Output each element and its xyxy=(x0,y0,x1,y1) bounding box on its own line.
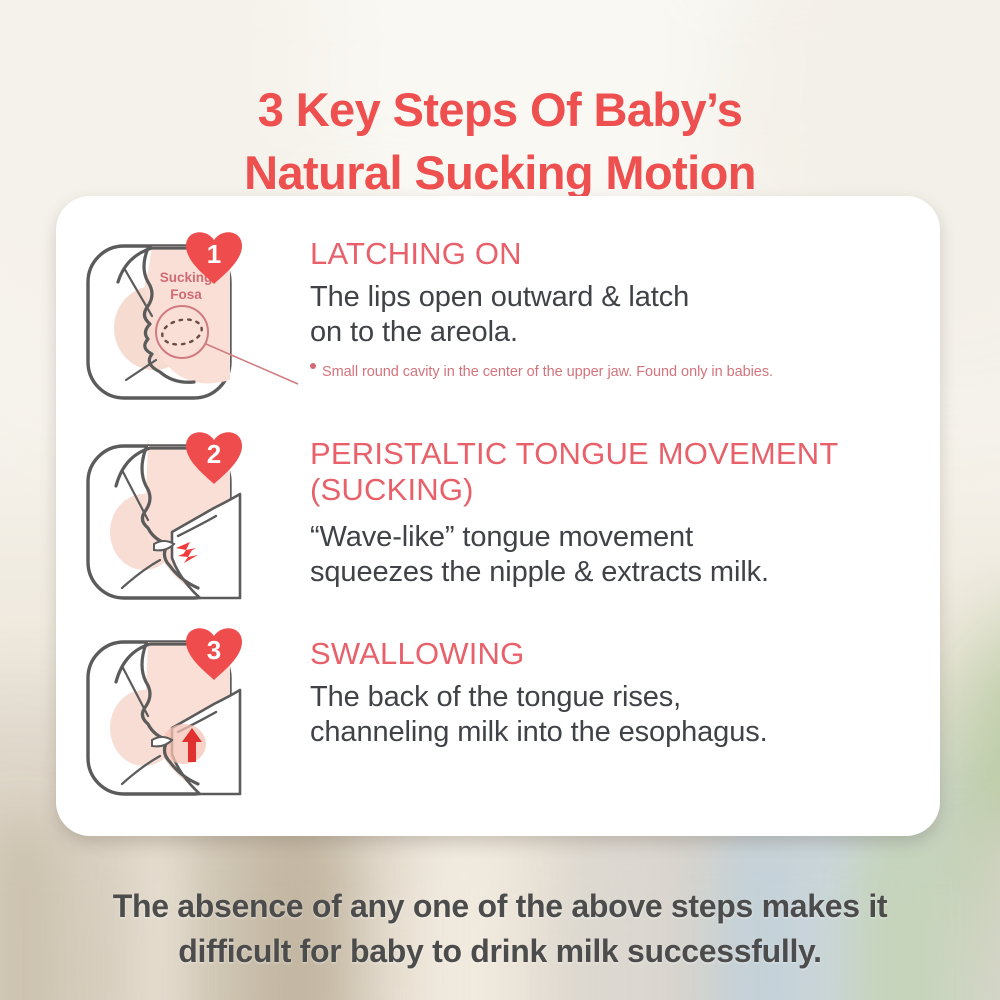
step-3-body-line-2: channeling milk into the esophagus. xyxy=(310,716,768,748)
step-2-body: “Wave-like” tongue movement squeezes the… xyxy=(310,520,914,591)
step-2-title-line-1: PERISTALTIC TONGUE MOVEMENT xyxy=(310,436,838,471)
step-3-figure: 3 xyxy=(82,620,298,810)
step-2-title: PERISTALTIC TONGUE MOVEMENT (SUCKING) xyxy=(310,436,914,508)
step-item-peristaltic-tongue-movement: 2 PERISTALTIC TONGUE MOVEMENT (SUCKING) … xyxy=(82,418,914,618)
step-3-body-line-1: The back of the tongue rises, xyxy=(310,681,681,713)
step-2-body-line-2: squeezes the nipple & extracts milk. xyxy=(310,556,769,588)
step-3-title: SWALLOWING xyxy=(310,636,914,672)
steps-list: Sucking Fosa 1 LATCHING ON The lips open… xyxy=(56,196,940,836)
steps-card: Sucking Fosa 1 LATCHING ON The lips open… xyxy=(56,196,940,836)
step-item-swallowing: 3 SWALLOWING The back of the tongue rise… xyxy=(82,618,914,818)
step-1-body: The lips open outward & latch on to the … xyxy=(310,280,914,351)
bottom-caption: The absence of any one of the above step… xyxy=(0,884,1000,975)
page-title: 3 Key Steps Of Baby’s Natural Sucking Mo… xyxy=(0,79,1000,203)
page-title-line-1: 3 Key Steps Of Baby’s xyxy=(258,83,743,136)
page-title-line-2: Natural Sucking Motion xyxy=(0,142,1000,204)
step-item-latching-on: Sucking Fosa 1 LATCHING ON The lips open… xyxy=(82,218,914,418)
step-1-body-line-2: on to the areola. xyxy=(310,316,518,348)
step-badge-number: 2 xyxy=(207,439,221,469)
leader-line-dot-icon xyxy=(310,363,316,369)
bottom-caption-line-1: The absence of any one of the above step… xyxy=(113,888,888,924)
bottom-caption-line-2: difficult for baby to drink milk success… xyxy=(0,929,1000,974)
step-1-copy: LATCHING ON The lips open outward & latc… xyxy=(298,218,914,381)
step-1-title: LATCHING ON xyxy=(310,236,914,272)
baby-head-sucking-icon: 2 xyxy=(82,420,298,610)
step-2-title-line-2: (SUCKING) xyxy=(310,472,474,507)
step-2-figure: 2 xyxy=(82,420,298,610)
step-3-body: The back of the tongue rises, channeling… xyxy=(310,680,914,751)
step-2-copy: PERISTALTIC TONGUE MOVEMENT (SUCKING) “W… xyxy=(298,418,914,591)
step-badge-number: 3 xyxy=(207,635,221,665)
step-1-body-line-1: The lips open outward & latch xyxy=(310,281,689,313)
baby-head-swallowing-icon: 3 xyxy=(82,620,298,810)
step-badge-number: 1 xyxy=(207,239,221,269)
step-1-note-row: Small round cavity in the center of the … xyxy=(310,351,914,381)
step-3-copy: SWALLOWING The back of the tongue rises,… xyxy=(298,618,914,751)
sucking-fosa-label-line-2: Fosa xyxy=(170,287,202,302)
step-2-body-line-1: “Wave-like” tongue movement xyxy=(310,521,693,553)
step-1-figure: Sucking Fosa 1 xyxy=(82,220,298,410)
step-1-note: Small round cavity in the center of the … xyxy=(322,364,773,381)
baby-head-latching-icon: Sucking Fosa 1 xyxy=(82,220,298,410)
